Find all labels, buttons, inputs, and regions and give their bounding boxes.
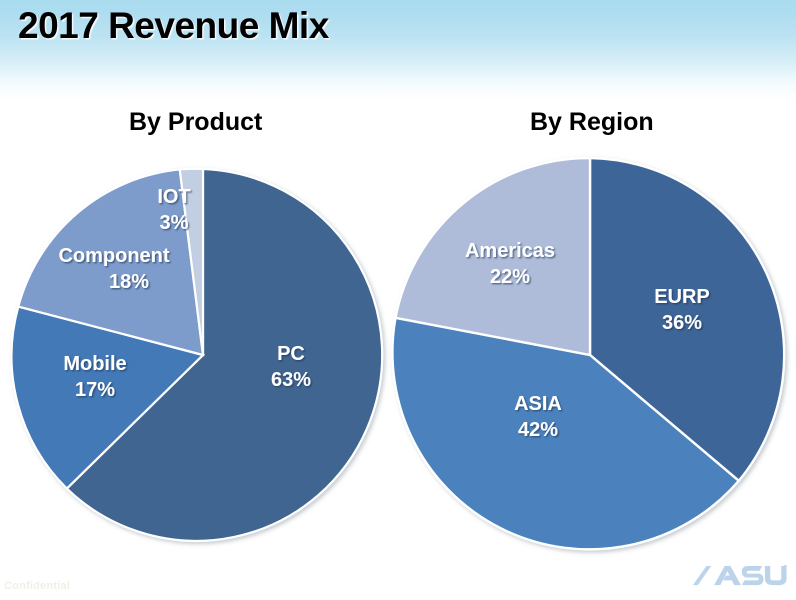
pie-label-pc-name: PC bbox=[277, 343, 305, 365]
chart-heading-by-region: By Region bbox=[530, 108, 654, 137]
pie-label-iot-pct: 3% bbox=[160, 212, 189, 234]
pie-region-svg: EURP 36% ASIA 42% Americas 22% bbox=[390, 154, 790, 560]
pie-label-component-name: Component bbox=[58, 245, 169, 267]
pie-label-americas-name: Americas bbox=[465, 240, 555, 262]
pie-label-pc-pct: 63% bbox=[271, 369, 311, 391]
pie-label-americas-pct: 22% bbox=[490, 266, 530, 288]
asus-logo bbox=[692, 564, 788, 590]
pie-label-eurp-pct: 36% bbox=[662, 312, 702, 334]
pie-chart-by-region[interactable]: EURP 36% ASIA 42% Americas 22% bbox=[390, 154, 790, 560]
pie-label-eurp-name: EURP bbox=[654, 286, 710, 308]
pie-label-component-pct: 18% bbox=[109, 271, 149, 293]
pie-chart-by-product[interactable]: PC 63% Mobile 17% Component 18% IOT 3% bbox=[10, 158, 400, 558]
pie-product-svg: PC 63% Mobile 17% Component 18% IOT 3% bbox=[10, 158, 400, 558]
confidential-watermark: Confidential bbox=[4, 580, 70, 592]
page-title: 2017 Revenue Mix bbox=[18, 5, 329, 47]
slide-canvas: 2017 Revenue Mix By Product bbox=[0, 0, 796, 600]
pie-label-mobile-pct: 17% bbox=[75, 379, 115, 401]
pie-region-slices bbox=[392, 158, 784, 549]
pie-label-iot-name: IOT bbox=[157, 186, 190, 208]
chart-heading-by-product: By Product bbox=[129, 108, 262, 137]
pie-label-asia-name: ASIA bbox=[514, 393, 562, 415]
pie-label-asia-pct: 42% bbox=[518, 419, 558, 441]
pie-label-mobile-name: Mobile bbox=[63, 353, 126, 375]
